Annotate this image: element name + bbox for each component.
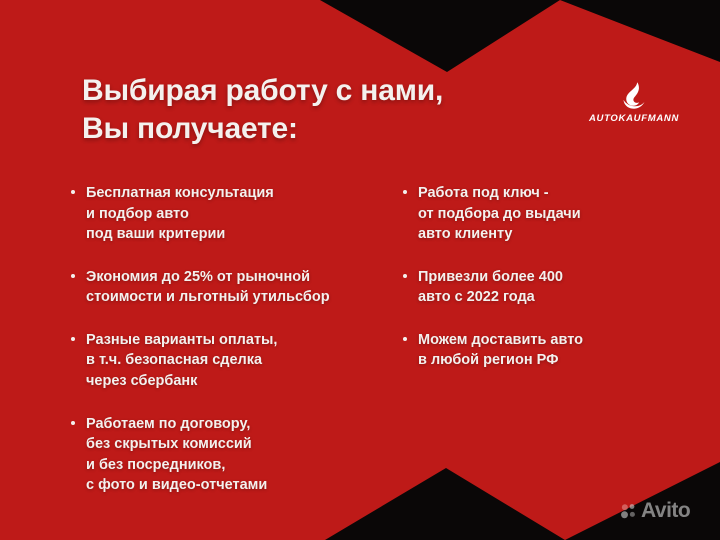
bullet-dot-icon: [71, 190, 75, 194]
bullet-dot-icon: [403, 190, 407, 194]
bullet-line: и без посредников,: [86, 455, 415, 476]
list-item: Работа под ключ - от подбора до выдачи а…: [402, 183, 707, 245]
list-item: Бесплатная консультация и подбор авто по…: [70, 183, 415, 245]
benefits-column-right: Работа под ключ - от подбора до выдачи а…: [402, 183, 707, 371]
list-item: Привезли более 400 авто с 2022 года: [402, 267, 707, 308]
bullet-line: через сбербанк: [86, 371, 415, 392]
bullet-line: Привезли более 400: [418, 267, 707, 288]
bullet-line: без скрытых комиссий: [86, 434, 415, 455]
avito-watermark: Avito: [620, 500, 690, 521]
bullet-line: Экономия до 25% от рыночной: [86, 267, 415, 288]
bullet-line: Бесплатная консультация: [86, 183, 415, 204]
bullet-line: Разные варианты оплаты,: [86, 330, 415, 351]
bullet-dot-icon: [71, 421, 75, 425]
list-item: Разные варианты оплаты, в т.ч. безопасна…: [70, 330, 415, 392]
bullet-line: под ваши критерии: [86, 224, 415, 245]
promo-poster: Выбирая работу с нами, Вы получаете: AUT…: [0, 0, 720, 540]
bullet-line: авто с 2022 года: [418, 287, 707, 308]
bullet-line: в т.ч. безопасная сделка: [86, 350, 415, 371]
list-item: Можем доставить авто в любой регион РФ: [402, 330, 707, 371]
bullet-line: от подбора до выдачи: [418, 204, 707, 225]
brand-wordmark: AUTOKAUFMANN: [588, 113, 680, 124]
avito-dots-icon: [620, 502, 638, 520]
bullet-line: стоимости и льготный утильсбор: [86, 287, 415, 308]
bullet-dot-icon: [71, 274, 75, 278]
list-item: Экономия до 25% от рыночной стоимости и …: [70, 267, 415, 308]
bullet-line: с фото и видео-отчетами: [86, 475, 415, 496]
bullet-line: Работа под ключ -: [418, 183, 707, 204]
headline-line-1: Выбирая работу с нами,: [82, 72, 562, 110]
bullet-dot-icon: [403, 274, 407, 278]
flame-logo-icon: [619, 80, 649, 110]
brand-logo: AUTOKAUFMANN: [588, 80, 680, 124]
headline-line-2: Вы получаете:: [82, 110, 562, 148]
benefits-column-left: Бесплатная консультация и подбор авто по…: [70, 183, 415, 496]
headline: Выбирая работу с нами, Вы получаете:: [82, 72, 562, 149]
bullet-dot-icon: [71, 337, 75, 341]
bullet-line: Можем доставить авто: [418, 330, 707, 351]
bullet-dot-icon: [403, 337, 407, 341]
avito-label: Avito: [641, 500, 690, 521]
bullet-line: и подбор авто: [86, 204, 415, 225]
bullet-line: в любой регион РФ: [418, 350, 707, 371]
bullet-line: авто клиенту: [418, 224, 707, 245]
list-item: Работаем по договору, без скрытых комисс…: [70, 414, 415, 496]
bullet-line: Работаем по договору,: [86, 414, 415, 435]
